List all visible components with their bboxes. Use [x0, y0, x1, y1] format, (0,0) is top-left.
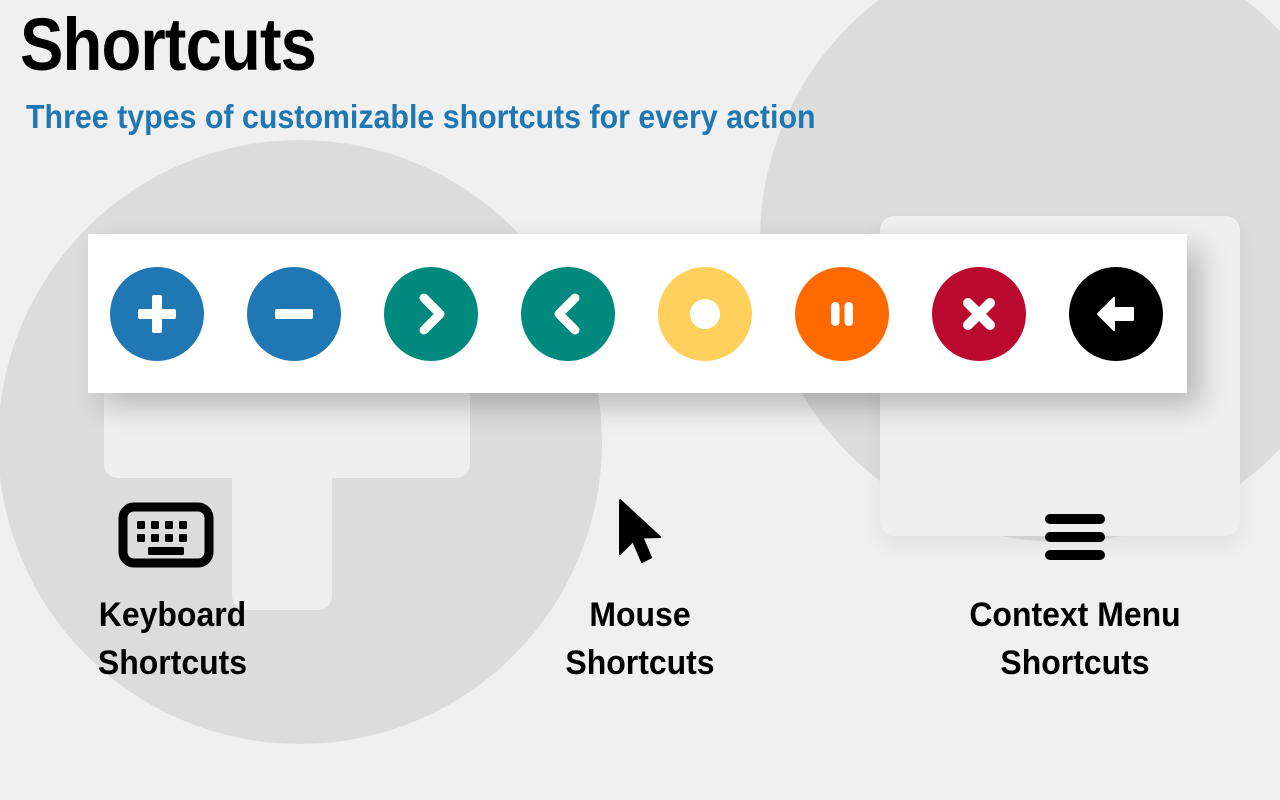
keyboard-icon [118, 502, 214, 573]
plus-icon [132, 289, 182, 339]
page-title: Shortcuts [20, 8, 1058, 82]
toolbar-button-backward[interactable] [521, 267, 615, 361]
minus-icon [269, 289, 319, 339]
shortcut-toolbar [88, 234, 1187, 393]
toolbar-button-close[interactable] [932, 267, 1026, 361]
record-icon [683, 292, 727, 336]
feature-row: Keyboard Shortcuts Mouse Shortcuts [0, 495, 1280, 715]
feature-context-menu-shortcuts: Context Menu Shortcuts [900, 495, 1250, 688]
toolbar-button-remove[interactable] [247, 267, 341, 361]
feature-label-mouse: Mouse Shortcuts [480, 591, 800, 688]
toolbar-button-record[interactable] [658, 267, 752, 361]
chevron-right-icon [405, 288, 457, 340]
arrow-left-icon [1090, 288, 1142, 340]
feature-label-keyboard: Keyboard Shortcuts [48, 591, 297, 688]
toolbar-button-add[interactable] [110, 267, 204, 361]
hamburger-icon-wrap [900, 495, 1250, 573]
toolbar-button-pause[interactable] [795, 267, 889, 361]
toolbar-button-forward[interactable] [384, 267, 478, 361]
header: Shortcuts Three types of customizable sh… [20, 8, 1200, 136]
shortcuts-slide: Shortcuts Three types of customizable sh… [0, 0, 1280, 800]
keyboard-icon-wrap [118, 495, 305, 573]
cursor-icon-wrap [470, 495, 810, 573]
chevron-left-icon [542, 288, 594, 340]
feature-label-context: Context Menu Shortcuts [911, 591, 1240, 688]
close-x-icon [955, 290, 1003, 338]
cursor-arrow-icon [614, 496, 666, 573]
toolbar-button-back[interactable] [1069, 267, 1163, 361]
feature-mouse-shortcuts: Mouse Shortcuts [470, 495, 810, 688]
feature-keyboard-shortcuts: Keyboard Shortcuts [40, 495, 305, 688]
page-subtitle: Three types of customizable shortcuts fo… [26, 98, 1106, 136]
hamburger-menu-icon [1039, 506, 1111, 573]
pause-icon [820, 292, 864, 336]
